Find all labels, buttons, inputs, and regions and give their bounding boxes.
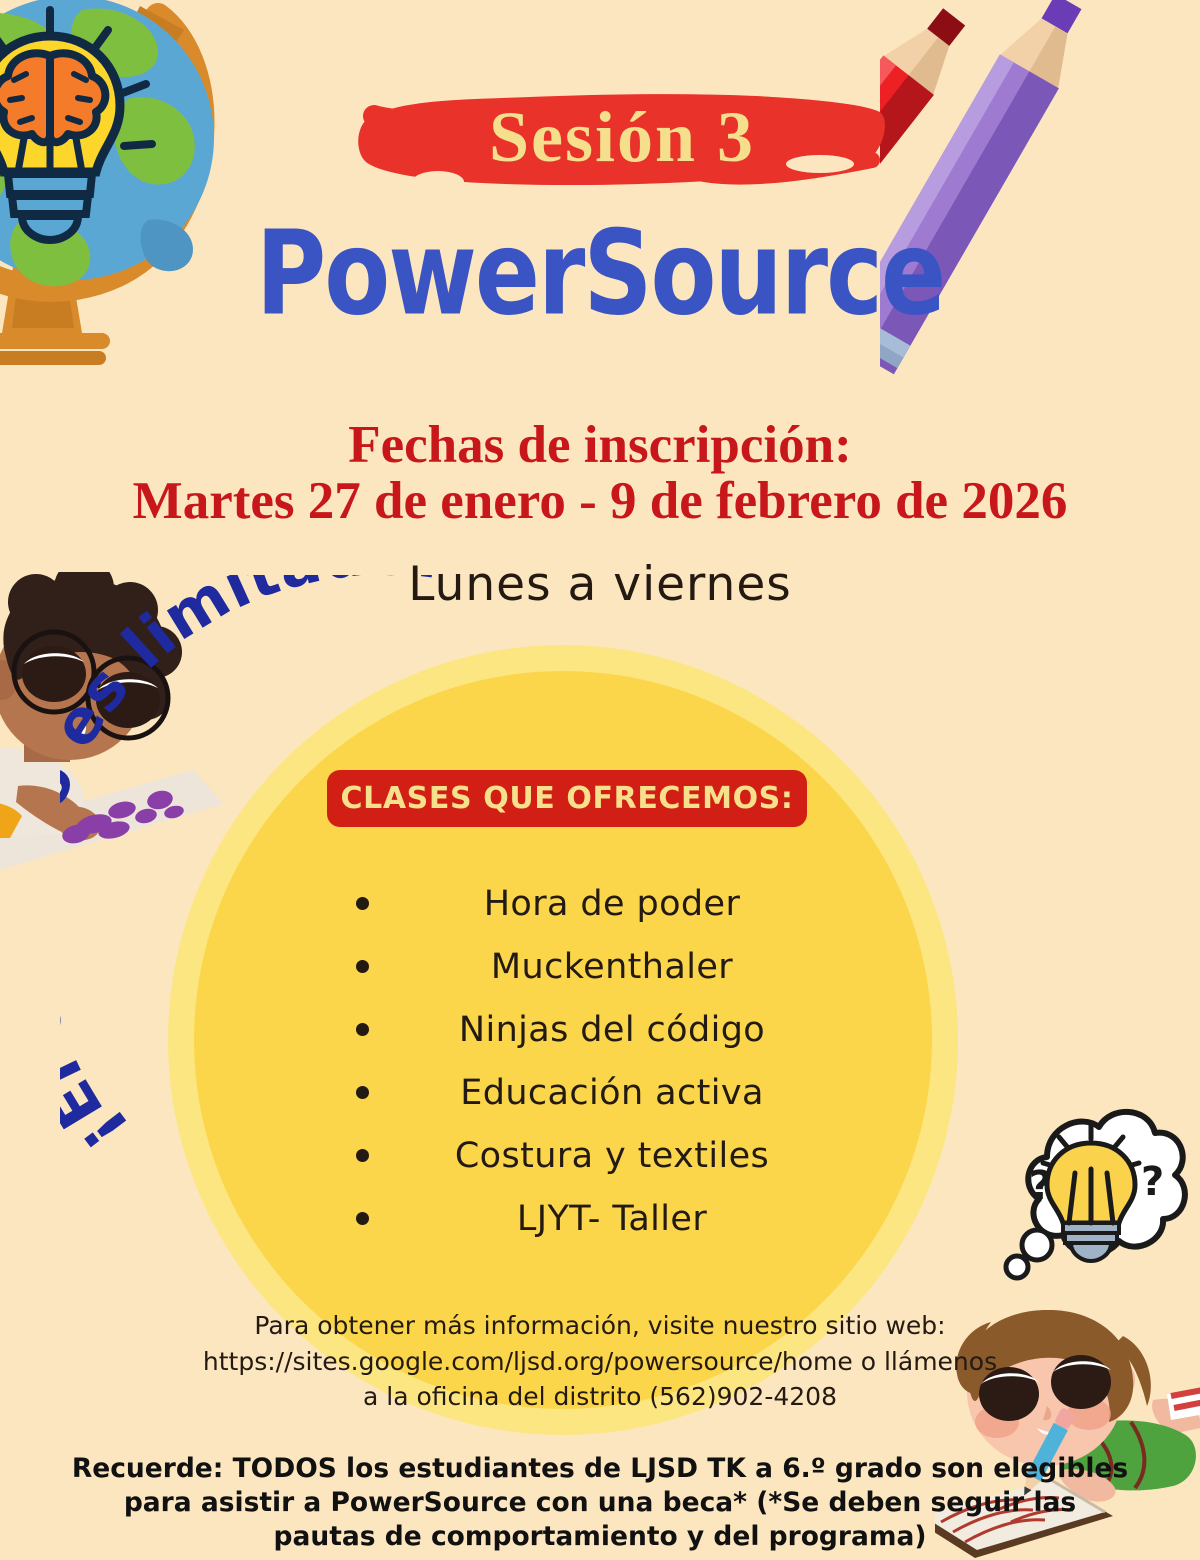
footer-line-1: Recuerde: TODOS los estudiantes de LJSD … [55, 1452, 1145, 1486]
footer-line-2: para asistir a PowerSource con una beca*… [55, 1486, 1145, 1520]
bullet-icon [330, 897, 394, 910]
footer-line-3: pautas de comportamiento y del programa) [55, 1520, 1145, 1554]
registration-dates: Fechas de inscripción: Martes 27 de ener… [0, 418, 1200, 530]
svg-text:?: ? [1141, 1159, 1164, 1205]
registration-heading: Fechas de inscripción: [0, 418, 1200, 473]
session-label: Sesión 3 [352, 86, 892, 194]
class-label: Hora de poder [394, 884, 850, 924]
list-item: LJYT- Taller [330, 1187, 850, 1250]
registration-range: Martes 27 de enero - 9 de febrero de 202… [0, 473, 1200, 530]
info-phone[interactable]: a la oficina del distrito (562)902-4208 [180, 1379, 1020, 1415]
class-label: Costura y textiles [394, 1136, 850, 1176]
session-banner: Sesión 3 [352, 86, 892, 194]
list-item: Ninjas del código [330, 998, 850, 1061]
class-label: Educación activa [394, 1073, 850, 1113]
list-item: Educación activa [330, 1061, 850, 1124]
bullet-icon [330, 1086, 394, 1099]
classes-badge-label: CLASES QUE OFRECEMOS: [341, 781, 794, 816]
thought-bubble-lightbulb-icon: ? ? [995, 1095, 1200, 1310]
list-item: Hora de poder [330, 872, 850, 935]
bullet-icon [330, 1023, 394, 1036]
info-website-url[interactable]: https://sites.google.com/ljsd.org/powers… [180, 1344, 1020, 1380]
class-label: Ninjas del código [394, 1010, 850, 1050]
class-label: Muckenthaler [394, 947, 850, 987]
classes-badge: CLASES QUE OFRECEMOS: [327, 770, 807, 827]
contact-info: Para obtener más información, visite nue… [180, 1308, 1020, 1415]
list-item: Costura y textiles [330, 1124, 850, 1187]
bullet-icon [330, 960, 394, 973]
class-label: LJYT- Taller [394, 1199, 850, 1239]
bullet-icon [330, 1212, 394, 1225]
svg-text:?: ? [1029, 1163, 1052, 1209]
program-title: PowerSource [0, 205, 1200, 342]
poster-canvas: ? ? [0, 0, 1200, 1553]
list-item: Muckenthaler [330, 935, 850, 998]
eligibility-footer: Recuerde: TODOS los estudiantes de LJSD … [55, 1452, 1145, 1554]
classes-list: Hora de poder Muckenthaler Ninjas del có… [330, 872, 850, 1250]
bullet-icon [330, 1149, 394, 1162]
info-line-1: Para obtener más información, visite nue… [180, 1308, 1020, 1344]
